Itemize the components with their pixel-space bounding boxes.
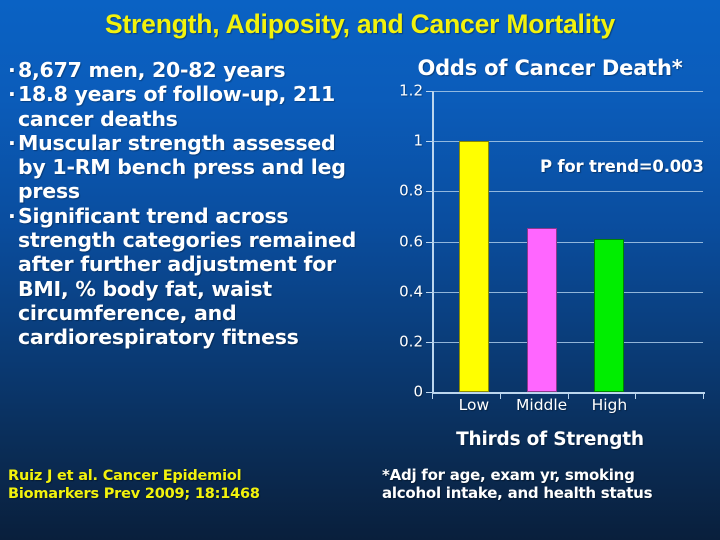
bullet-text: Muscular strength assessed by 1-RM bench… (18, 131, 346, 204)
p-trend-annotation: P for trend=0.003 (540, 157, 704, 176)
bullet-marker-icon: · (8, 204, 16, 228)
footnote-block: *Adj for age, exam yr, smoking alcohol i… (382, 466, 720, 502)
bullet-marker-icon: · (8, 58, 16, 82)
y-tick-mark (426, 141, 433, 142)
page-title: Strength, Adiposity, and Cancer Mortalit… (0, 9, 720, 40)
citation-line-1: Ruiz J et al. Cancer Epidemiol (8, 468, 368, 486)
bullet-text: Significant trend across strength catego… (18, 204, 356, 349)
x-tick-mark (568, 392, 569, 399)
x-axis-title: Thirds of Strength (382, 429, 718, 450)
plot-area: 00.20.40.60.811.2 LowMiddleHigh P for tr… (432, 91, 703, 392)
chart-panel: Odds of Cancer Death* 00.20.40.60.811.2 … (382, 56, 718, 456)
x-tick-mark (635, 392, 636, 399)
y-tick-label: 0.6 (399, 234, 423, 249)
footnote-line-2: alcohol intake, and health status (382, 484, 720, 502)
bullet-item: ·Muscular strength assessed by 1-RM benc… (6, 131, 366, 204)
y-tick-mark (426, 91, 433, 92)
y-tick-mark (426, 292, 433, 293)
citation-line-2: Biomarkers Prev 2009; 18:1468 (8, 486, 368, 504)
category-label: Middle (516, 397, 567, 414)
x-tick-mark (432, 392, 433, 399)
y-tick-label: 1.2 (399, 84, 423, 99)
bullet-item: ·18.8 years of follow-up, 211 cancer dea… (6, 82, 366, 131)
bullet-item: ·Significant trend across strength categ… (6, 204, 366, 350)
citation-block: Ruiz J et al. Cancer Epidemiol Biomarker… (8, 468, 368, 503)
category-label: High (592, 397, 628, 414)
y-tick-mark (426, 191, 433, 192)
footnote-line-1: *Adj for age, exam yr, smoking (382, 466, 720, 484)
bar-high (594, 239, 624, 392)
x-tick-mark (703, 392, 704, 399)
y-tick-label: 0.8 (399, 184, 423, 199)
gridline (432, 91, 703, 92)
y-tick-label: 0.4 (399, 284, 423, 299)
bullet-marker-icon: · (8, 82, 16, 106)
x-axis-line (432, 392, 705, 394)
chart-title: Odds of Cancer Death* (382, 56, 718, 80)
bar-middle (527, 228, 557, 392)
bullet-list: ·8,677 men, 20-82 years·18.8 years of fo… (6, 58, 366, 350)
bullet-marker-icon: · (8, 131, 16, 155)
y-tick-label: 0.2 (399, 334, 423, 349)
x-tick-mark (500, 392, 501, 399)
y-tick-mark (426, 342, 433, 343)
y-tick-label: 1 (413, 134, 423, 149)
bullet-text: 8,677 men, 20-82 years (18, 58, 285, 82)
bullet-text: 18.8 years of follow-up, 211 cancer deat… (18, 82, 335, 130)
y-tick-mark (426, 242, 433, 243)
category-label: Low (459, 397, 490, 414)
bullet-item: ·8,677 men, 20-82 years (6, 58, 366, 82)
bar-low (459, 141, 489, 392)
y-tick-label: 0 (413, 385, 423, 400)
